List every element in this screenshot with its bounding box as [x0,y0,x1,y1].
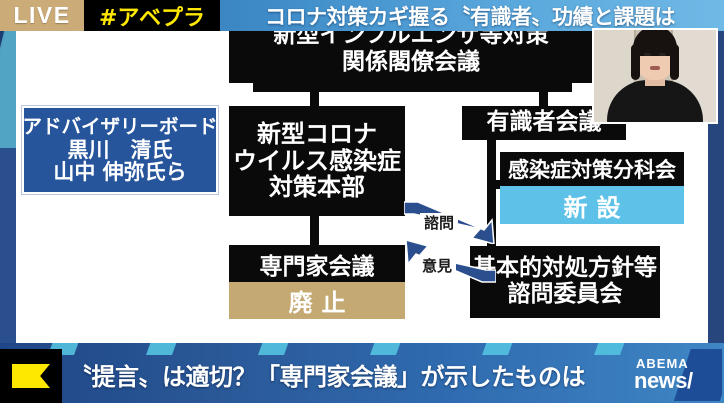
guest-eye-right [659,53,666,56]
node-advisory-member-2: 山中 伸弥氏ら [53,162,186,184]
node-headquarters: 新型コロナ ウイルス感染症 対策本部 [229,106,405,216]
connector-headquarters-to-experts [310,214,319,247]
connector-cabinet-to-yushikisha [539,83,548,108]
hashtag-badge: #アベプラ [84,0,220,31]
ticker-text: 〝提言〟は適切？「専門家会議」が示したものは [68,351,585,397]
node-advisory-committee-line1: 基本的対処方針等 [473,257,657,281]
node-experts-title: 専門家会議 [229,245,405,282]
node-headquarters-line1: 新型コロナ [257,122,377,147]
connector-cabinet-horizontal [253,83,572,92]
bottom-ticker-bar: 〝提言〟は適切？「専門家会議」が示したものは ABEMA news/ [0,343,724,403]
node-yushikisha-title: 有識者会議 [487,111,602,135]
guest-eye-left [644,53,651,56]
node-advisory-member-1: 黒川 清氏 [68,140,173,162]
status-badge-abolished: 廃止 [229,282,405,319]
top-header-bar: LIVE #アベプラ コロナ対策カギ握る〝有識者〟功績と課題は [0,0,724,31]
flag-icon [12,364,50,388]
guest-hair-top [633,28,677,56]
abema-news-logo: ABEMA news/ [630,349,722,401]
logo-news-text: news/ [634,368,693,394]
broadcast-screen: LIVE #アベプラ コロナ対策カギ握る〝有識者〟功績と課題は 新型インフルエン… [0,0,724,403]
node-advisory-board: アドバイザリーボード 黒川 清氏 山中 伸弥氏ら [22,106,218,194]
guest-mouth [650,66,660,70]
video-call-inset [592,28,718,124]
node-subcommittee-title: 感染症対策分科会 [500,152,684,186]
node-advisory-committee: 基本的対処方針等 諮問委員会 [470,246,660,318]
node-subcommittee: 感染症対策分科会 新設 [500,152,684,224]
node-headquarters-line2: ウイルス感染症 [233,149,401,174]
node-experts-meeting: 専門家会議 廃止 [229,245,405,319]
status-badge-new: 新設 [500,186,684,224]
arrow-iken-label: 意見 [418,256,456,277]
chevron-deco-6 [594,343,628,355]
node-advisory-committee-line2: 諮問委員会 [508,283,623,307]
node-cabinet-line2: 関係閣僚会議 [342,51,480,75]
arrow-shimon-label: 諮問 [420,213,458,234]
flag-badge [0,349,62,403]
node-advisory-title: アドバイザリーボード [23,117,218,137]
headline-text: コロナ対策カギ握る〝有識者〟功績と課題は [220,0,724,31]
live-badge: LIVE [0,0,84,31]
node-headquarters-line3: 対策本部 [269,175,365,200]
connector-cabinet-to-headquarters [310,83,319,108]
